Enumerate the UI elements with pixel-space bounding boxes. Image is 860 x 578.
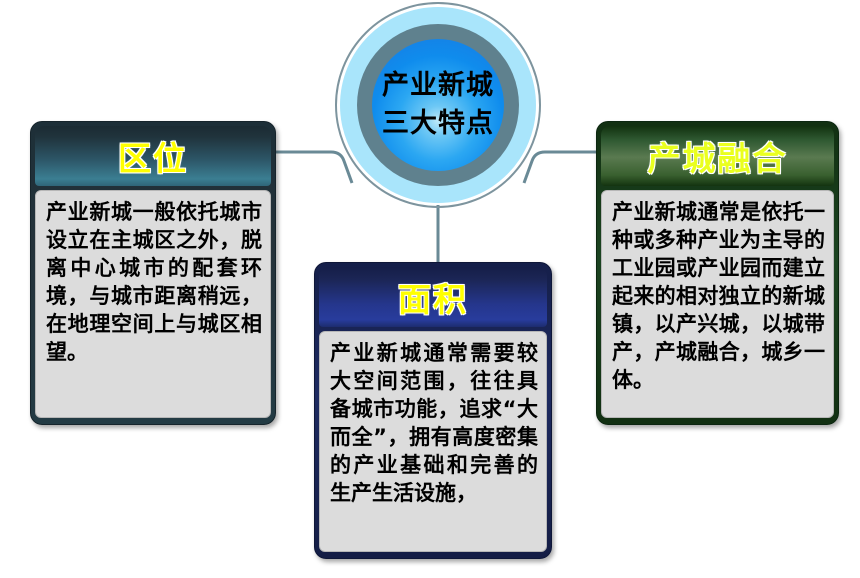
card-integration[interactable]: 产城融合 产业新城通常是依托一种或多种产业为主导的工业园或产业园而建立起来的相对… xyxy=(596,121,839,425)
hub-core: 产业新城 三大特点 xyxy=(372,39,504,171)
diagram-canvas: 产业新城 三大特点 区位 产业新城一般依托城市设立在主城区之外，脱离中心城市的配… xyxy=(0,0,860,578)
hub-title-line-1: 产业新城 xyxy=(382,67,494,105)
card-area-title: 面积 xyxy=(398,273,468,321)
hub-title-line-2: 三大特点 xyxy=(382,105,494,143)
card-location-body: 产业新城一般依托城市设立在主城区之外，脱离中心城市的配套环境，与城市距离稍远，在… xyxy=(35,190,271,418)
card-area-header: 面积 xyxy=(319,267,547,327)
card-location[interactable]: 区位 产业新城一般依托城市设立在主城区之外，脱离中心城市的配套环境，与城市距离稍… xyxy=(30,121,276,425)
card-integration-header: 产城融合 xyxy=(601,126,834,186)
hub-circle: 产业新城 三大特点 xyxy=(335,2,541,208)
card-integration-body: 产业新城通常是依托一种或多种产业为主导的工业园或产业园而建立起来的相对独立的新城… xyxy=(601,190,834,418)
card-location-header: 区位 xyxy=(35,126,271,186)
card-integration-title: 产城融合 xyxy=(648,132,788,180)
card-area[interactable]: 面积 产业新城通常需要较大空间范围，往往具备城市功能，追求“大而全”，拥有高度密… xyxy=(314,262,552,559)
card-area-body: 产业新城通常需要较大空间范围，往往具备城市功能，追求“大而全”，拥有高度密集的产… xyxy=(319,331,547,552)
card-location-title: 区位 xyxy=(118,132,188,180)
